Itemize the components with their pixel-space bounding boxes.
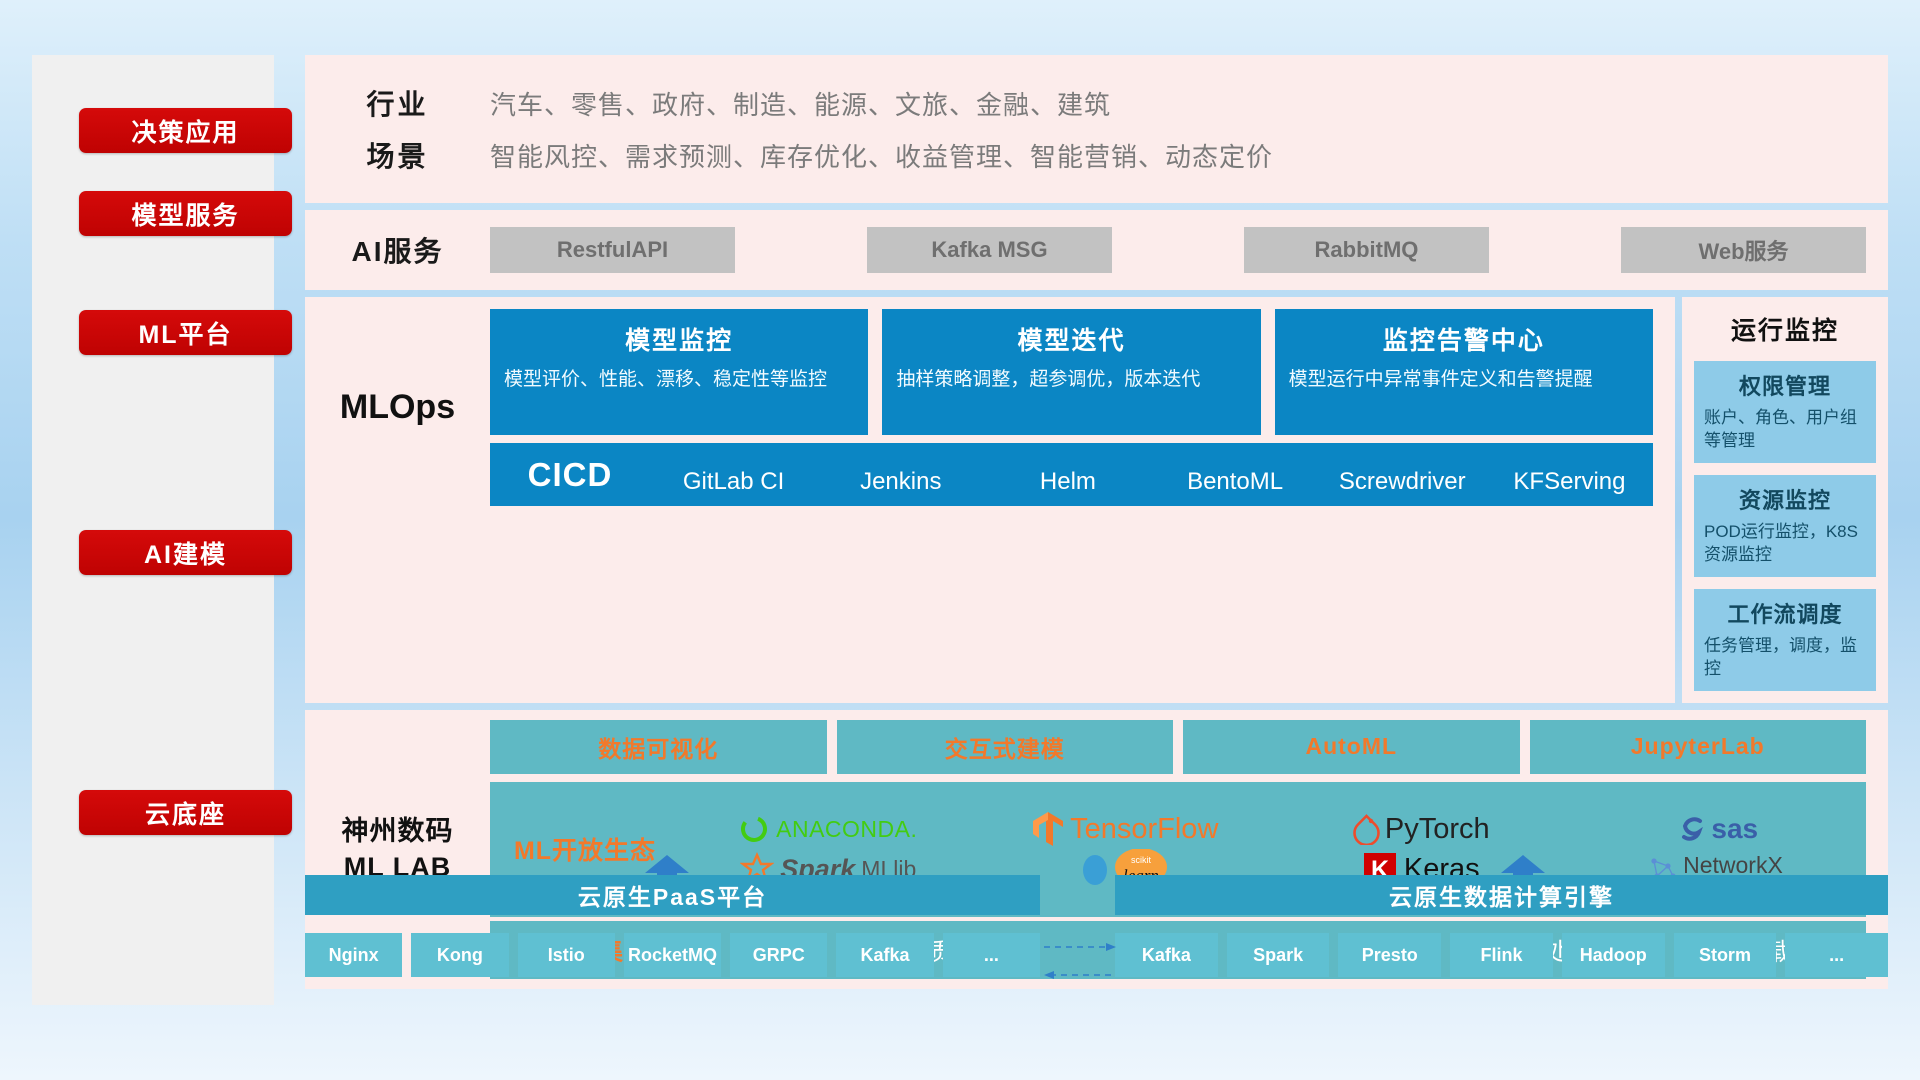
ml-lab-tool-list: 数据可视化 交互式建模 AutoML JupyterLab	[490, 720, 1866, 774]
mlops-card-model-iteration[interactable]: 模型迭代 抽样策略调整，超参调优，版本迭代	[882, 309, 1260, 435]
mlops-card-model-monitoring[interactable]: 模型监控 模型评价、性能、漂移、稳定性等监控	[490, 309, 868, 435]
rail-label: 模型服务	[131, 196, 239, 232]
cicd-item-bentoml[interactable]: BentoML	[1152, 470, 1319, 494]
cicd-bar: CICD GitLab CI Jenkins Helm BentoML Scre…	[490, 443, 1653, 506]
cicd-item-list: GitLab CI Jenkins Helm BentoML Screwdriv…	[650, 456, 1653, 494]
tensorflow-icon	[1031, 810, 1065, 848]
band-mlops: MLOps 模型监控 模型评价、性能、漂移、稳定性等监控 模型迭代 抽样策略调整…	[305, 297, 1675, 703]
diagram-canvas: 决策应用 模型服务 ML平台 AI建模 云底座 行业 汽车、零售、政府、制造、能…	[0, 0, 1920, 1080]
card-title: 模型迭代	[896, 321, 1246, 357]
arrow-right-icon	[1106, 943, 1116, 951]
card-desc: 模型运行中异常事件定义和告警提醒	[1289, 367, 1639, 393]
paas-chip-kafka[interactable]: Kafka	[836, 933, 933, 977]
industry-value: 汽车、零售、政府、制造、能源、文旅、金融、建筑	[490, 85, 1111, 122]
main-stack: 行业 汽车、零售、政府、制造、能源、文旅、金融、建筑 场景 智能风控、需求预测、…	[305, 55, 1888, 989]
rail-label: AI建模	[144, 535, 227, 571]
left-rail: 决策应用 模型服务 ML平台 AI建模 云底座	[32, 55, 274, 1005]
engine-chip-more[interactable]: ...	[1785, 933, 1888, 977]
monitor-card-workflow[interactable]: 工作流调度 任务管理，调度，监控	[1694, 589, 1876, 691]
paas-chip-grpc[interactable]: GRPC	[730, 933, 827, 977]
engine-chip-flink[interactable]: Flink	[1450, 933, 1553, 977]
ai-service-chip[interactable]: Kafka MSG	[867, 227, 1112, 273]
card-title: 监控告警中心	[1289, 321, 1639, 357]
industry-label: 行业	[305, 83, 490, 123]
cicd-item-kfserving[interactable]: KFServing	[1486, 470, 1653, 494]
monitor-card-resource[interactable]: 资源监控 POD运行监控，K8S资源监控	[1694, 475, 1876, 577]
cicd-label: CICD	[490, 456, 650, 494]
engine-chip-kafka[interactable]: Kafka	[1115, 933, 1218, 977]
tensorflow-wordmark: TensorFlow	[1070, 813, 1218, 846]
scenario-label: 场景	[305, 135, 490, 175]
card-title: 资源监控	[1704, 483, 1866, 515]
ml-lab-tool-jupyterlab[interactable]: JupyterLab	[1530, 720, 1867, 774]
band-ai-service: AI服务 RestfulAPI Kafka MSG RabbitMQ Web服务	[305, 210, 1888, 290]
paas-chip-kong[interactable]: Kong	[411, 933, 508, 977]
ml-lab-tool-interactive-modeling[interactable]: 交互式建模	[837, 720, 1174, 774]
ml-lab-tool-data-visualization[interactable]: 数据可视化	[490, 720, 827, 774]
scenario-row: 场景 智能风控、需求预测、库存优化、收益管理、智能营销、动态定价	[305, 129, 1888, 181]
rail-item-ai-modeling[interactable]: AI建模	[79, 530, 292, 575]
sas-logo: sas	[1677, 813, 1758, 845]
card-desc: 任务管理，调度，监控	[1704, 635, 1866, 681]
mlops-card-list: 模型监控 模型评价、性能、漂移、稳定性等监控 模型迭代 抽样策略调整，超参调优，…	[490, 309, 1653, 435]
rail-label: 云底座	[145, 795, 226, 831]
paas-title: 云原生PaaS平台	[305, 875, 1040, 915]
ml-lab-tool-automl[interactable]: AutoML	[1183, 720, 1520, 774]
column-runtime-monitoring: 运行监控 权限管理 账户、角色、用户组等管理 资源监控 POD运行监控，K8S资…	[1682, 297, 1888, 703]
card-title: 权限管理	[1704, 369, 1866, 401]
mlops-label: MLOps	[305, 309, 490, 506]
paas-chip-more[interactable]: ...	[943, 933, 1040, 977]
engine-chip-spark[interactable]: Spark	[1227, 933, 1330, 977]
card-desc: 账户、角色、用户组等管理	[1704, 407, 1866, 453]
ai-service-chip-list: RestfulAPI Kafka MSG RabbitMQ Web服务	[490, 227, 1888, 273]
engine-chip-list: Kafka Spark Presto Flink Hadoop Storm ..…	[1115, 933, 1888, 977]
ai-service-chip[interactable]: RestfulAPI	[490, 227, 735, 273]
pytorch-icon	[1353, 813, 1380, 845]
ai-service-chip[interactable]: Web服务	[1621, 227, 1866, 273]
paas-chip-rocketmq[interactable]: RocketMQ	[624, 933, 721, 977]
rail-item-cloud-foundation[interactable]: 云底座	[79, 790, 292, 835]
row-mlops-and-monitor: MLOps 模型监控 模型评价、性能、漂移、稳定性等监控 模型迭代 抽样策略调整…	[305, 297, 1888, 703]
cloud-foundation-section: 云原生PaaS平台 云原生数据计算引擎 Nginx Kong Istio Roc…	[305, 875, 1888, 1005]
band-decision-application: 行业 汽车、零售、政府、制造、能源、文旅、金融、建筑 场景 智能风控、需求预测、…	[305, 55, 1888, 203]
ml-lab-label-line1: 神州数码	[342, 813, 454, 849]
rail-item-ml-platform[interactable]: ML平台	[79, 310, 292, 355]
industry-row: 行业 汽车、零售、政府、制造、能源、文旅、金融、建筑	[305, 77, 1888, 129]
paas-chip-istio[interactable]: Istio	[518, 933, 615, 977]
cicd-item-screwdriver[interactable]: Screwdriver	[1319, 470, 1486, 494]
paas-chip-list: Nginx Kong Istio RocketMQ GRPC Kafka ...	[305, 933, 1040, 977]
svg-text:scikit: scikit	[1131, 855, 1151, 865]
pytorch-logo: PyTorch	[1353, 813, 1490, 846]
cicd-item-gitlab-ci[interactable]: GitLab CI	[650, 470, 817, 494]
card-desc: POD运行监控，K8S资源监控	[1704, 521, 1866, 567]
engine-chip-presto[interactable]: Presto	[1338, 933, 1441, 977]
tensorflow-logo: TensorFlow	[1031, 810, 1218, 848]
sas-wordmark: sas	[1711, 813, 1758, 845]
sas-icon	[1677, 814, 1707, 844]
paas-chip-nginx[interactable]: Nginx	[305, 933, 402, 977]
anaconda-wordmark: ANACONDA.	[776, 816, 917, 843]
card-desc: 抽样策略调整，超参调优，版本迭代	[896, 367, 1246, 393]
runtime-monitoring-title: 运行监控	[1694, 311, 1876, 347]
networkx-wordmark: NetworkX	[1683, 854, 1787, 877]
card-title: 工作流调度	[1704, 597, 1866, 629]
ai-service-label: AI服务	[305, 230, 490, 270]
engine-chip-storm[interactable]: Storm	[1674, 933, 1777, 977]
cicd-item-jenkins[interactable]: Jenkins	[817, 470, 984, 494]
ai-service-chip[interactable]: RabbitMQ	[1244, 227, 1489, 273]
rail-label: 决策应用	[131, 113, 239, 149]
scenario-value: 智能风控、需求预测、库存优化、收益管理、智能营销、动态定价	[490, 137, 1273, 174]
mlops-card-alert-center[interactable]: 监控告警中心 模型运行中异常事件定义和告警提醒	[1275, 309, 1653, 435]
card-title: 模型监控	[504, 321, 854, 357]
rail-label: ML平台	[138, 315, 232, 351]
monitor-card-permission[interactable]: 权限管理 账户、角色、用户组等管理	[1694, 361, 1876, 463]
bidirectional-link-arrows	[1040, 931, 1120, 991]
anaconda-icon	[739, 814, 769, 844]
rail-item-model-service[interactable]: 模型服务	[79, 191, 292, 236]
engine-title: 云原生数据计算引擎	[1115, 875, 1888, 915]
cicd-item-helm[interactable]: Helm	[984, 470, 1151, 494]
arrow-left-icon	[1044, 971, 1054, 979]
rail-item-decision-application[interactable]: 决策应用	[79, 108, 292, 153]
engine-chip-hadoop[interactable]: Hadoop	[1562, 933, 1665, 977]
anaconda-logo: ANACONDA.	[739, 814, 917, 844]
card-desc: 模型评价、性能、漂移、稳定性等监控	[504, 367, 854, 393]
pytorch-wordmark: PyTorch	[1385, 813, 1490, 846]
